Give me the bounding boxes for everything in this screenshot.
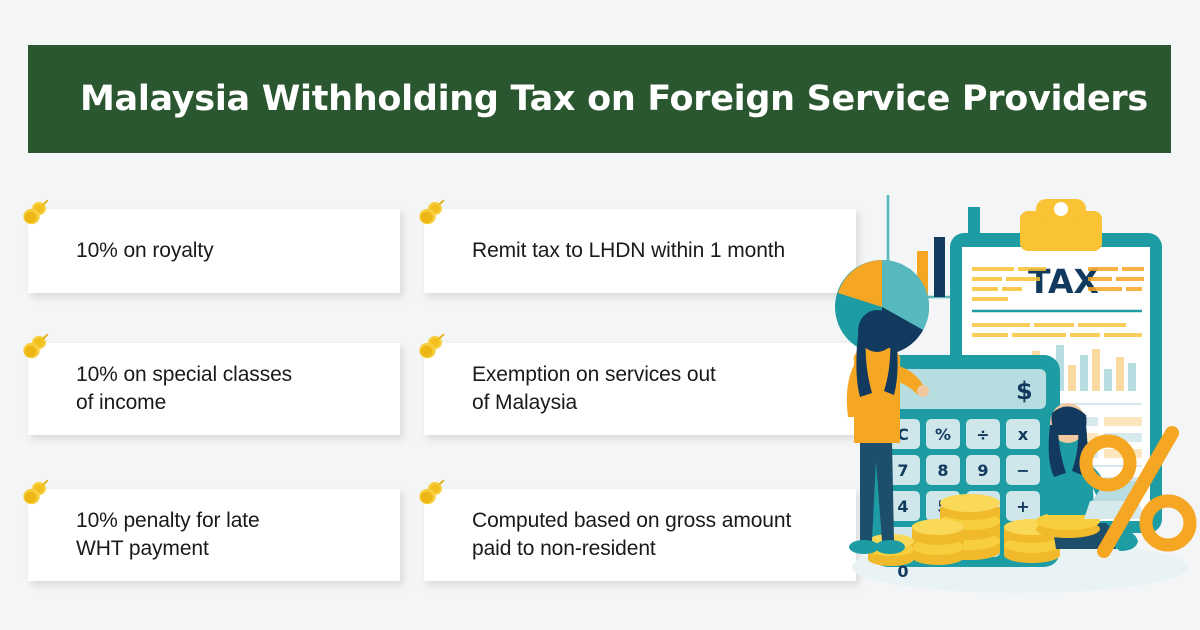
pushpin-icon <box>414 197 448 231</box>
fact-card-right-3[interactable]: Computed based on gross amount paid to n… <box>424 489 856 581</box>
page-title: Malaysia Withholding Tax on Foreign Serv… <box>28 79 1148 119</box>
fact-card-left-2[interactable]: 10% on special classes of income <box>28 343 400 435</box>
pushpin-icon <box>18 331 52 365</box>
fact-card-text: 10% on royalty <box>28 237 228 265</box>
svg-text:÷: ÷ <box>976 425 989 444</box>
svg-text:8: 8 <box>937 461 948 480</box>
clipboard-text-lines-right <box>1088 267 1144 291</box>
fact-line: Computed based on gross amount <box>472 507 791 535</box>
svg-text:9: 9 <box>977 461 988 480</box>
pushpin-icon <box>414 477 448 511</box>
fact-card-text: 10% penalty for late WHT payment <box>28 507 274 562</box>
fact-line: 10% on royalty <box>76 237 214 265</box>
svg-text:7: 7 <box>897 461 908 480</box>
fact-card-left-3[interactable]: 10% penalty for late WHT payment <box>28 489 400 581</box>
fact-line: WHT payment <box>76 535 260 563</box>
fact-line: paid to non-resident <box>472 535 791 563</box>
pushpin-icon <box>18 477 52 511</box>
svg-text:−: − <box>1016 461 1029 480</box>
fact-line: Exemption on services out <box>472 361 716 389</box>
calculator-dollar-symbol: $ <box>1016 377 1033 405</box>
infographic-page: Malaysia Withholding Tax on Foreign Serv… <box>0 0 1200 630</box>
svg-text:4: 4 <box>897 497 908 516</box>
svg-text:x: x <box>1018 425 1029 444</box>
header-banner: Malaysia Withholding Tax on Foreign Serv… <box>28 45 1171 153</box>
svg-text:%: % <box>935 425 951 444</box>
fact-card-text: 10% on special classes of income <box>28 361 306 416</box>
tax-calculation-illustration: TAX <box>820 185 1200 605</box>
fact-line: 10% on special classes <box>76 361 292 389</box>
fact-card-text: Exemption on services out of Malaysia <box>424 361 730 416</box>
fact-card-right-1[interactable]: Remit tax to LHDN within 1 month <box>424 209 856 293</box>
svg-text:+: + <box>1016 497 1029 516</box>
fact-card-right-2[interactable]: Exemption on services out of Malaysia <box>424 343 856 435</box>
fact-card-left-1[interactable]: 10% on royalty <box>28 209 400 293</box>
fact-line: 10% penalty for late <box>76 507 260 535</box>
coin-stack-mid <box>912 519 964 565</box>
fact-line: of Malaysia <box>472 389 716 417</box>
fact-card-text: Remit tax to LHDN within 1 month <box>424 237 799 265</box>
fact-card-text: Computed based on gross amount paid to n… <box>424 507 805 562</box>
pushpin-icon <box>18 197 52 231</box>
fact-line: Remit tax to LHDN within 1 month <box>472 237 785 265</box>
pushpin-icon <box>414 331 448 365</box>
facts-card-grid: 10% on royalty 10% on special classes of… <box>0 195 880 595</box>
fact-line: of income <box>76 389 292 417</box>
